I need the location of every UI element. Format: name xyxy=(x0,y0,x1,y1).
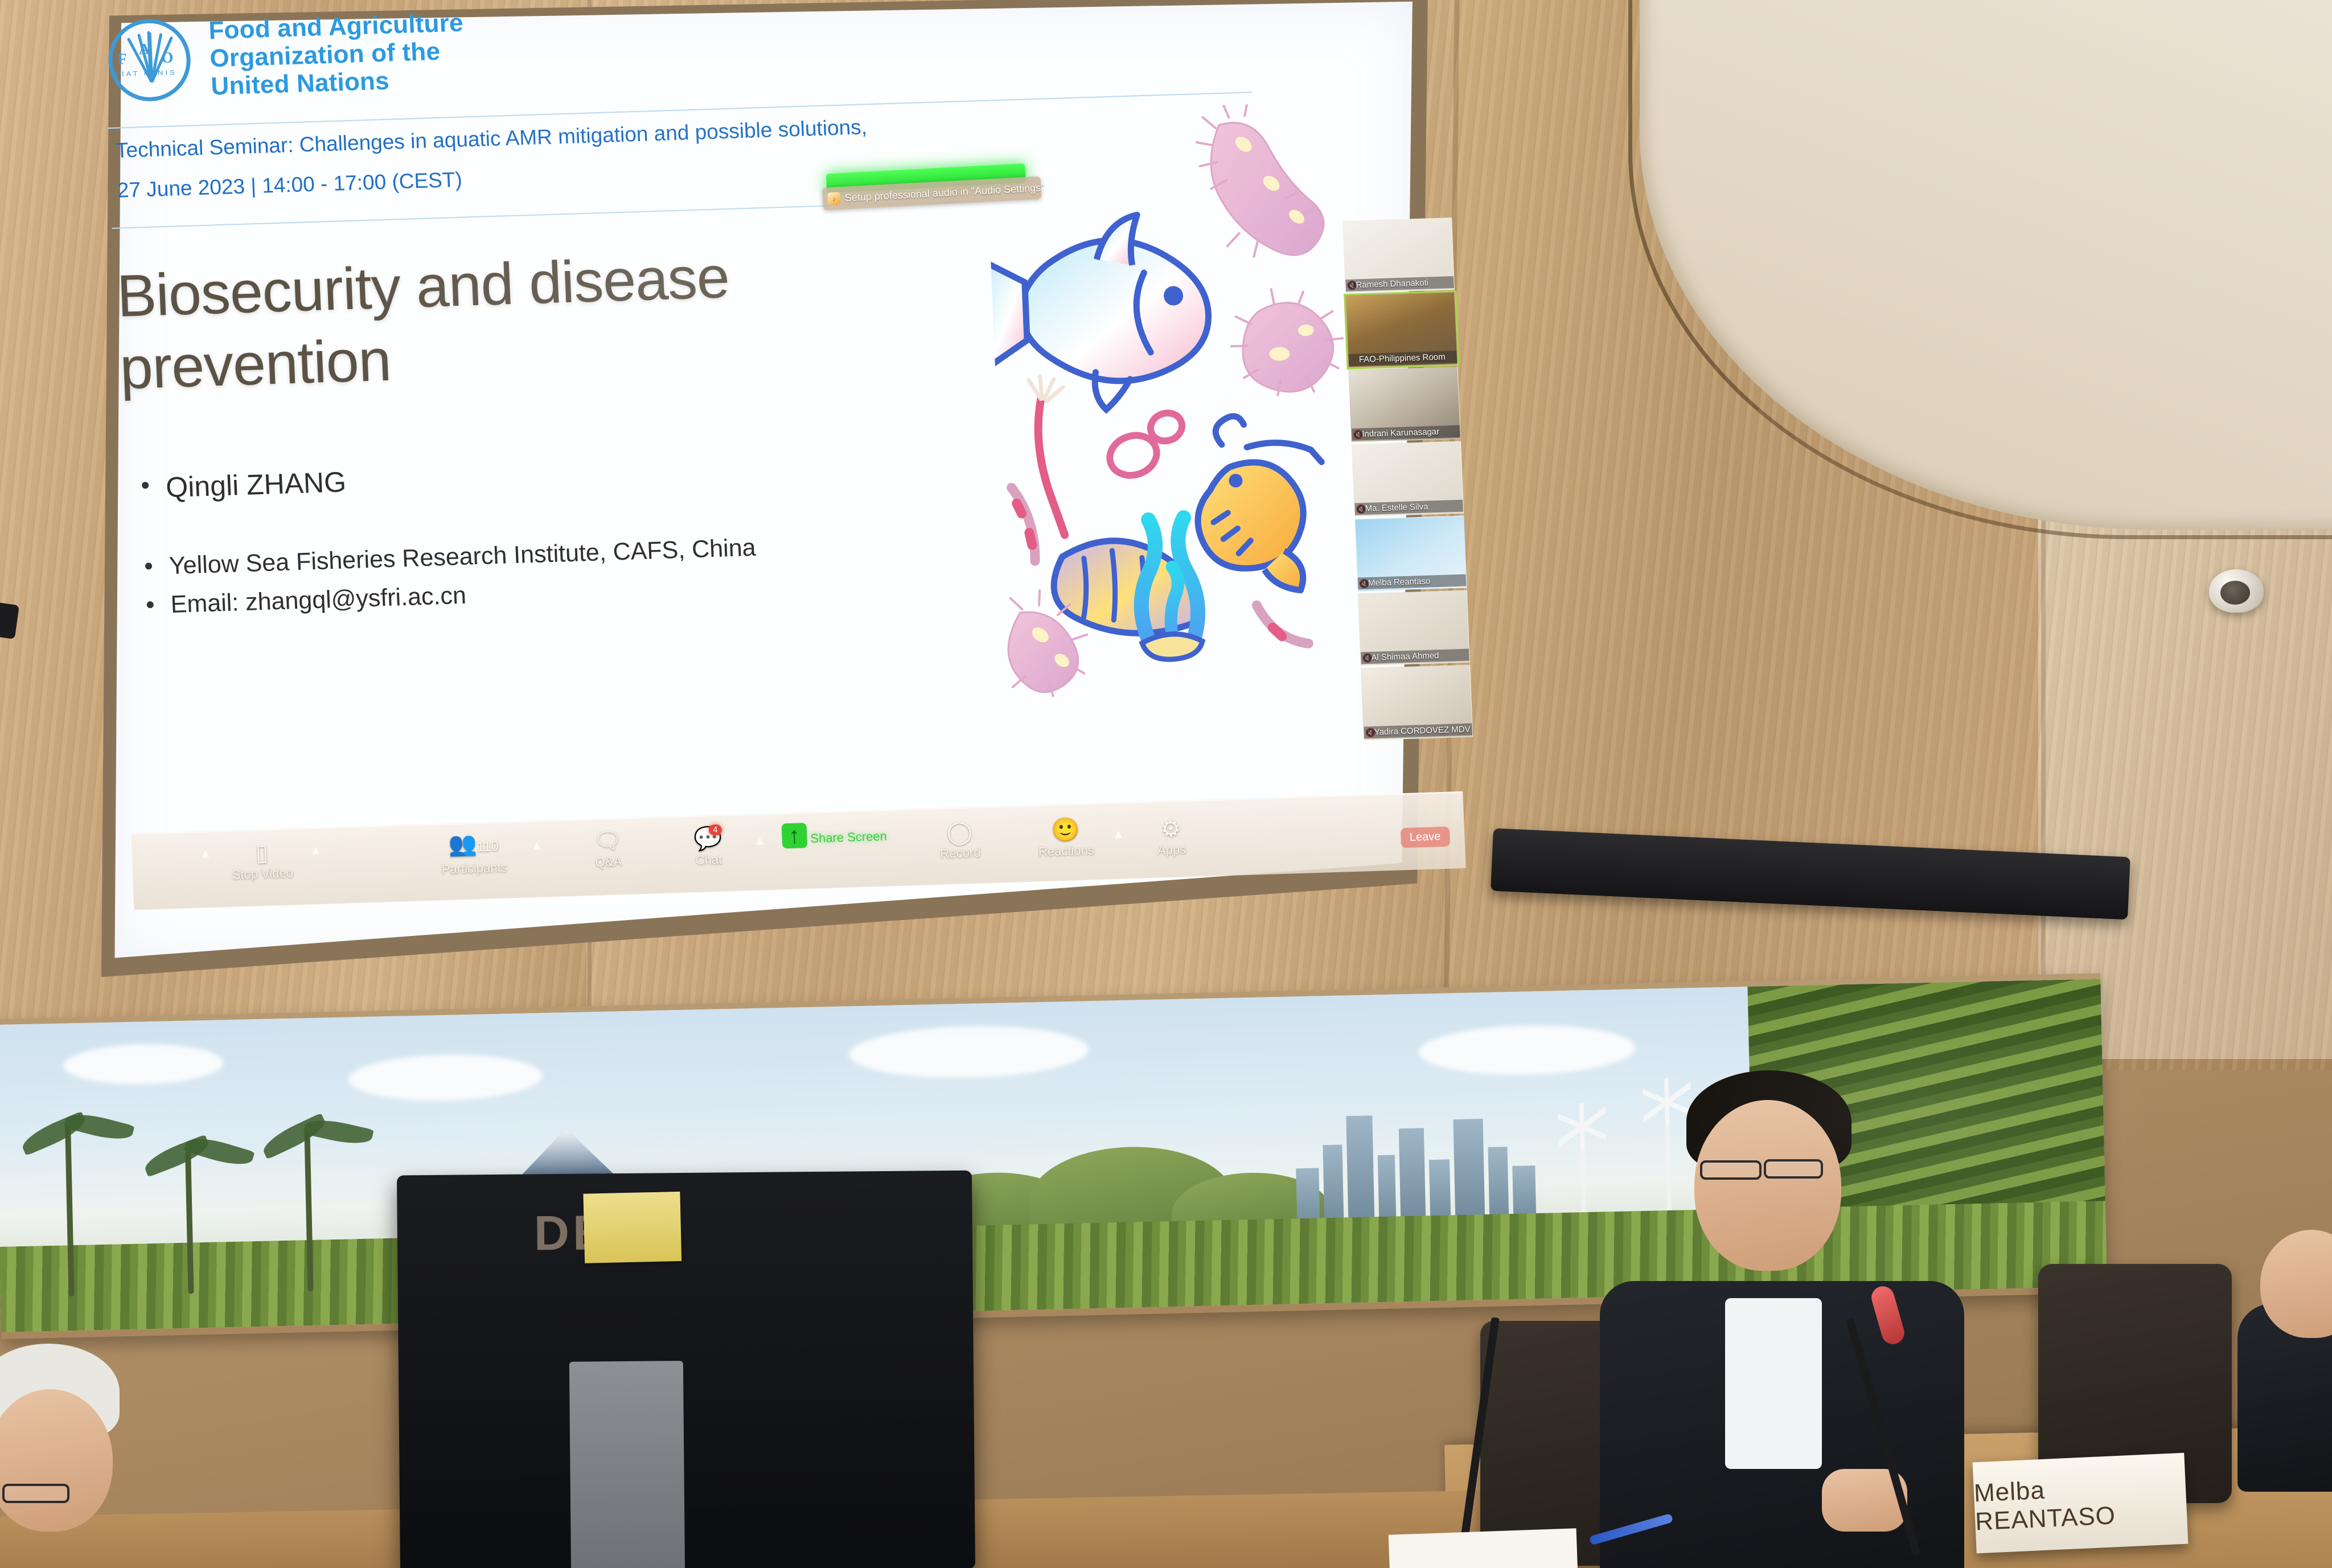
seminar-datetime: 27 June 2023 | 14:00 - 17:00 (CEST) xyxy=(117,168,463,203)
nameplate-text: Melba REANTASO xyxy=(1973,1470,2187,1537)
record-label: Record xyxy=(940,845,981,861)
record-icon: ◯ xyxy=(919,819,1000,845)
phage-rings-icon xyxy=(1103,408,1188,482)
desk-paper xyxy=(1389,1528,1578,1568)
stop-video-label: Stop Video xyxy=(232,865,293,881)
participant-name: Ma. Estelle Silva xyxy=(1354,499,1464,515)
participant-tile[interactable]: 🔇 Ramesh Dhanakoti xyxy=(1342,217,1455,293)
participant-tile[interactable]: 🔇 Ma. Estelle Silva xyxy=(1352,441,1464,517)
zoom-toolbar[interactable]: ▲ ▯ Stop Video ▲ 👥110 Participants ▲ 🗨 Q… xyxy=(131,791,1465,910)
record-button[interactable]: ◯ Record xyxy=(919,819,1001,862)
share-screen-button[interactable]: ↑ Share Screen xyxy=(777,820,892,850)
seminar-subtitle: Technical Seminar: Challenges in aquatic… xyxy=(115,115,868,162)
reactions-caret-icon[interactable]: ▲ xyxy=(1112,827,1125,842)
speaker-glasses xyxy=(1700,1160,1762,1180)
audio-settings-icon: ♪ xyxy=(827,192,840,205)
chat-badge: 4 xyxy=(709,824,722,836)
participants-count: 110 xyxy=(477,839,499,855)
participants-filmstrip[interactable]: 🔇 Ramesh Dhanakoti FAO-Philippines Room … xyxy=(1342,217,1474,795)
foreground-person-right xyxy=(2237,1230,2332,1492)
fao-letter-o: O xyxy=(161,48,174,67)
participants-caret-icon[interactable]: ▲ xyxy=(530,838,543,853)
slide-bullet-list: Qingli ZHANG Yellow Sea Fisheries Resear… xyxy=(133,445,937,627)
participant-name: Indrani Karunasagar xyxy=(1352,425,1461,441)
participant-tile[interactable]: 🔇 Al Shimaa Ahmed xyxy=(1358,590,1470,666)
nameplate: Melba REANTASO xyxy=(1973,1453,2189,1554)
chat-bubbles-icon: 🗨 xyxy=(573,828,643,854)
apps-icon: ⚙ xyxy=(1139,816,1203,842)
dell-monitor: DELL xyxy=(397,1171,975,1568)
bacteria-rod-icon xyxy=(1209,120,1325,258)
foreground-person-glasses xyxy=(2,1484,69,1503)
video-caret-icon[interactable]: ▲ xyxy=(309,843,322,858)
monitor-tape-cover xyxy=(583,1192,681,1263)
monitor-stand xyxy=(569,1361,685,1568)
share-screen-label: Share Screen xyxy=(810,829,887,845)
qa-button[interactable]: 🗨 Q&A xyxy=(573,828,643,871)
slide-title: Biosecurity and disease prevention xyxy=(116,233,987,405)
shrimp-icon xyxy=(1194,413,1327,593)
chat-button[interactable]: 💬 4 Chat xyxy=(674,826,744,869)
participant-tile[interactable]: 🔇 Yadira CORDOVEZ MDV xyxy=(1361,664,1473,740)
apps-label: Apps xyxy=(1157,842,1186,857)
participants-label: Participants xyxy=(441,860,507,877)
ceiling-dome-light xyxy=(2209,569,2264,613)
participant-name: Yadira CORDOVEZ MDV xyxy=(1364,723,1473,739)
participant-name: FAO-Philippines Room xyxy=(1348,350,1457,366)
chat-bubble-icon: 💬 xyxy=(674,826,743,852)
participant-tile[interactable]: 🔇 Indrani Karunasagar xyxy=(1349,367,1461,442)
camera-icon: ▯ xyxy=(227,840,297,866)
conference-room-photo: F A O FIAT PANIS Food and Agriculture Or… xyxy=(0,0,2332,1568)
striped-worm-icon xyxy=(1012,487,1036,561)
stop-video-button[interactable]: ▯ Stop Video xyxy=(227,840,297,882)
chat-label: Chat xyxy=(695,852,722,867)
participant-name: Melba Reantaso xyxy=(1358,574,1467,590)
people-icon: 👥110 xyxy=(428,831,520,861)
reactions-button[interactable]: 🙂 Reactions xyxy=(1020,816,1112,860)
video-options-caret-icon[interactable]: ▲ xyxy=(199,846,212,861)
participants-button[interactable]: 👥110 Participants xyxy=(428,831,520,877)
fao-letter-f: F xyxy=(117,50,128,68)
worm-icon xyxy=(1029,376,1069,536)
foreground-person-left xyxy=(0,1344,182,1568)
chat-caret-icon[interactable]: ▲ xyxy=(753,833,766,848)
speaker-head xyxy=(1694,1100,1841,1271)
participant-name: Al Shimaa Ahmed xyxy=(1361,648,1470,664)
share-screen-icon: ↑ xyxy=(781,823,807,848)
fao-logo-icon: F A O FIAT PANIS xyxy=(107,18,192,102)
participant-name: Ramesh Dhanakoti xyxy=(1345,276,1455,292)
participant-tile[interactable]: 🔇 Melba Reantaso xyxy=(1354,516,1467,592)
fao-branding: F A O FIAT PANIS Food and Agriculture Or… xyxy=(107,9,466,104)
striped-worm-icon-2 xyxy=(1257,604,1308,645)
fish-icon xyxy=(985,213,1212,413)
worm-tuft xyxy=(1029,376,1064,402)
fao-letter-a: A xyxy=(138,40,150,59)
reactions-label: Reactions xyxy=(1038,843,1094,859)
qa-label: Q&A xyxy=(595,854,622,869)
participant-tile[interactable]: FAO-Philippines Room xyxy=(1345,292,1457,368)
bacteria-blob-icon xyxy=(1229,287,1345,396)
leave-button[interactable]: Leave xyxy=(1400,827,1450,848)
speaker-glasses xyxy=(1764,1159,1823,1179)
apps-button[interactable]: ⚙ Apps xyxy=(1139,816,1204,858)
bullet-presenter-name: Qingli ZHANG xyxy=(133,445,931,508)
projected-slide: F A O FIAT PANIS Food and Agriculture Or… xyxy=(108,0,1457,965)
speaker-shirt xyxy=(1725,1298,1822,1469)
reactions-icon: 🙂 xyxy=(1020,816,1112,843)
mural-city-skyline xyxy=(1295,1106,1536,1231)
